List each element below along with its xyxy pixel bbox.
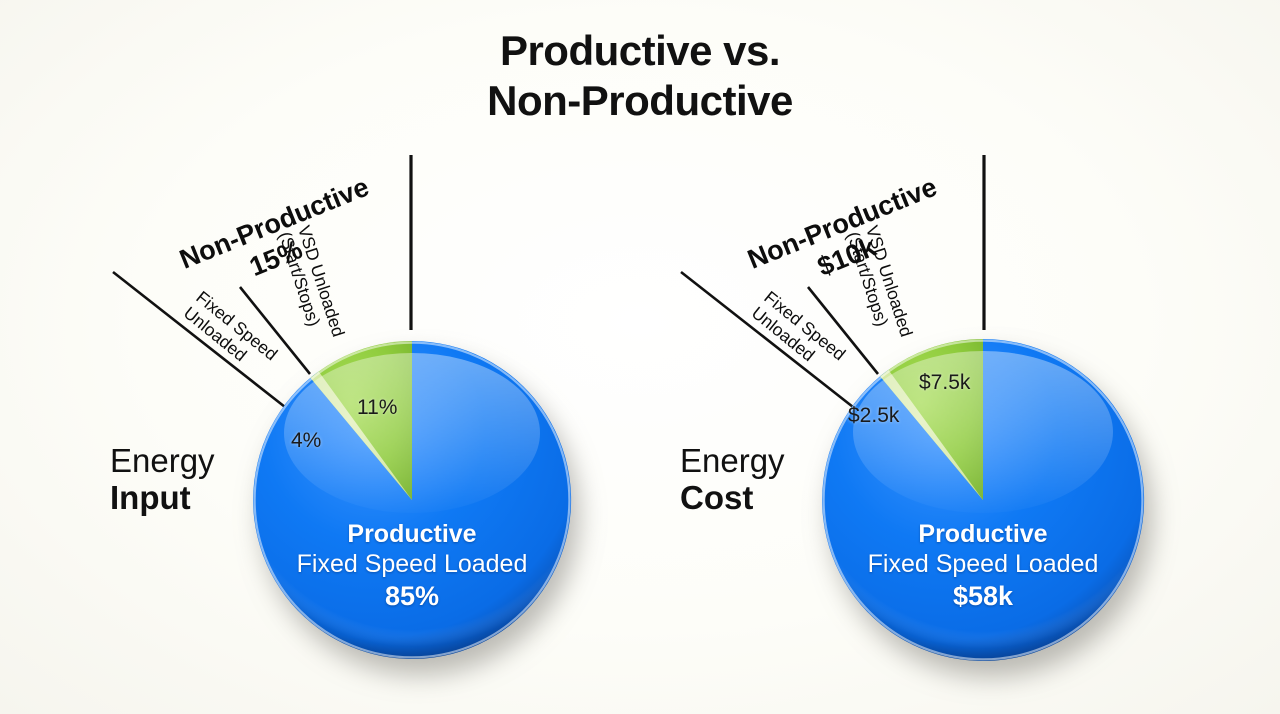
leader-line-fixed-speed <box>113 272 285 407</box>
callout-fixed-speed-unloaded-energy-input: Fixed Speed Unloaded <box>180 287 282 380</box>
pie-rim-shading <box>253 341 571 659</box>
pie-rim-shading <box>822 339 1144 661</box>
center-label-line-1: Productive <box>822 519 1144 549</box>
pie-center-label-energy-cost: Productive Fixed Speed Loaded $58k <box>822 519 1144 613</box>
caption-energy-input-bottom: Input <box>110 480 215 517</box>
callout-non-productive-label: Non-Productive <box>743 171 942 277</box>
callout-fixed-speed-unloaded-energy-cost: Fixed Speed Unloaded <box>748 287 850 380</box>
pie-gloss-highlight <box>284 353 540 513</box>
pie-slice-fixed-speed-unloaded <box>880 370 983 500</box>
callout-vsd-unloaded-energy-input: VSD Unloaded (Start/Stops) <box>275 223 349 345</box>
pie-gloss-highlight <box>853 351 1113 513</box>
caption-energy-cost-bottom: Cost <box>680 480 785 517</box>
slice-value-fixed-speed-energy-cost: $2.5k <box>848 404 899 428</box>
pie-edge-highlight <box>255 343 570 658</box>
pie-center-label-energy-input: Productive Fixed Speed Loaded 85% <box>253 519 571 613</box>
callout-fixed-speed-line-2: Unloaded <box>748 303 837 380</box>
caption-energy-cost: Energy Cost <box>680 443 785 517</box>
pie-slice-fixed-speed-unloaded <box>311 371 413 500</box>
pie-edge-highlight <box>824 341 1143 660</box>
leader-line-vsd <box>808 287 878 374</box>
center-label-line-3: 85% <box>253 580 571 613</box>
title-line-1: Productive vs. <box>0 26 1280 76</box>
callout-fixed-speed-line-2: Unloaded <box>180 303 269 380</box>
callout-non-productive-label: Non-Productive <box>175 171 374 277</box>
callout-fixed-speed-line-1: Fixed Speed <box>192 287 281 364</box>
pie-slices-energy-cost <box>822 339 1144 661</box>
slide-canvas: Productive vs. Non-Productive Non-Produc… <box>0 0 1280 714</box>
center-label-line-2: Fixed Speed Loaded <box>253 549 571 580</box>
pie-slice-productive <box>822 339 1144 661</box>
leader-line-fixed-speed <box>681 272 853 407</box>
slice-value-vsd-energy-input: 11% <box>357 396 397 420</box>
callout-fixed-speed-line-1: Fixed Speed <box>760 287 849 364</box>
pie-drop-shadow <box>830 355 1152 677</box>
pie-slice-vsd-unloaded <box>311 341 413 500</box>
callout-vsd-line-1: VSD Unloaded <box>862 223 917 339</box>
center-label-line-2: Fixed Speed Loaded <box>822 549 1144 580</box>
callout-vsd-line-2: (Start/Stops) <box>275 229 330 345</box>
callout-vsd-line-2: (Start/Stops) <box>843 229 898 345</box>
callout-vsd-unloaded-energy-cost: VSD Unloaded (Start/Stops) <box>843 223 917 345</box>
pie-drop-shadow <box>261 357 579 675</box>
caption-energy-input: Energy Input <box>110 443 215 517</box>
pie-energy-input: 11% 4% Productive Fixed Speed Loaded 85% <box>253 341 571 659</box>
pie-slice-productive <box>253 341 571 659</box>
center-label-line-1: Productive <box>253 519 571 549</box>
caption-energy-cost-top: Energy <box>680 443 785 480</box>
callout-non-productive-value: 15% <box>187 201 386 307</box>
pie-slice-vsd-unloaded <box>880 339 983 500</box>
page-title: Productive vs. Non-Productive <box>0 26 1280 126</box>
leader-line-vsd <box>240 287 310 374</box>
slice-value-vsd-energy-cost: $7.5k <box>919 371 970 395</box>
caption-energy-input-top: Energy <box>110 443 215 480</box>
callout-non-productive-energy-cost: Non-Productive $10k <box>743 171 954 307</box>
callout-non-productive-energy-input: Non-Productive 15% <box>175 171 386 307</box>
callout-non-productive-value: $10k <box>755 201 954 307</box>
pie-energy-cost: $7.5k $2.5k Productive Fixed Speed Loade… <box>822 339 1144 661</box>
slice-value-fixed-speed-energy-input: 4% <box>291 429 321 453</box>
pie-slices-energy-input <box>253 341 571 659</box>
center-label-line-3: $58k <box>822 580 1144 613</box>
title-line-2: Non-Productive <box>0 76 1280 126</box>
callout-vsd-line-1: VSD Unloaded <box>294 223 349 339</box>
